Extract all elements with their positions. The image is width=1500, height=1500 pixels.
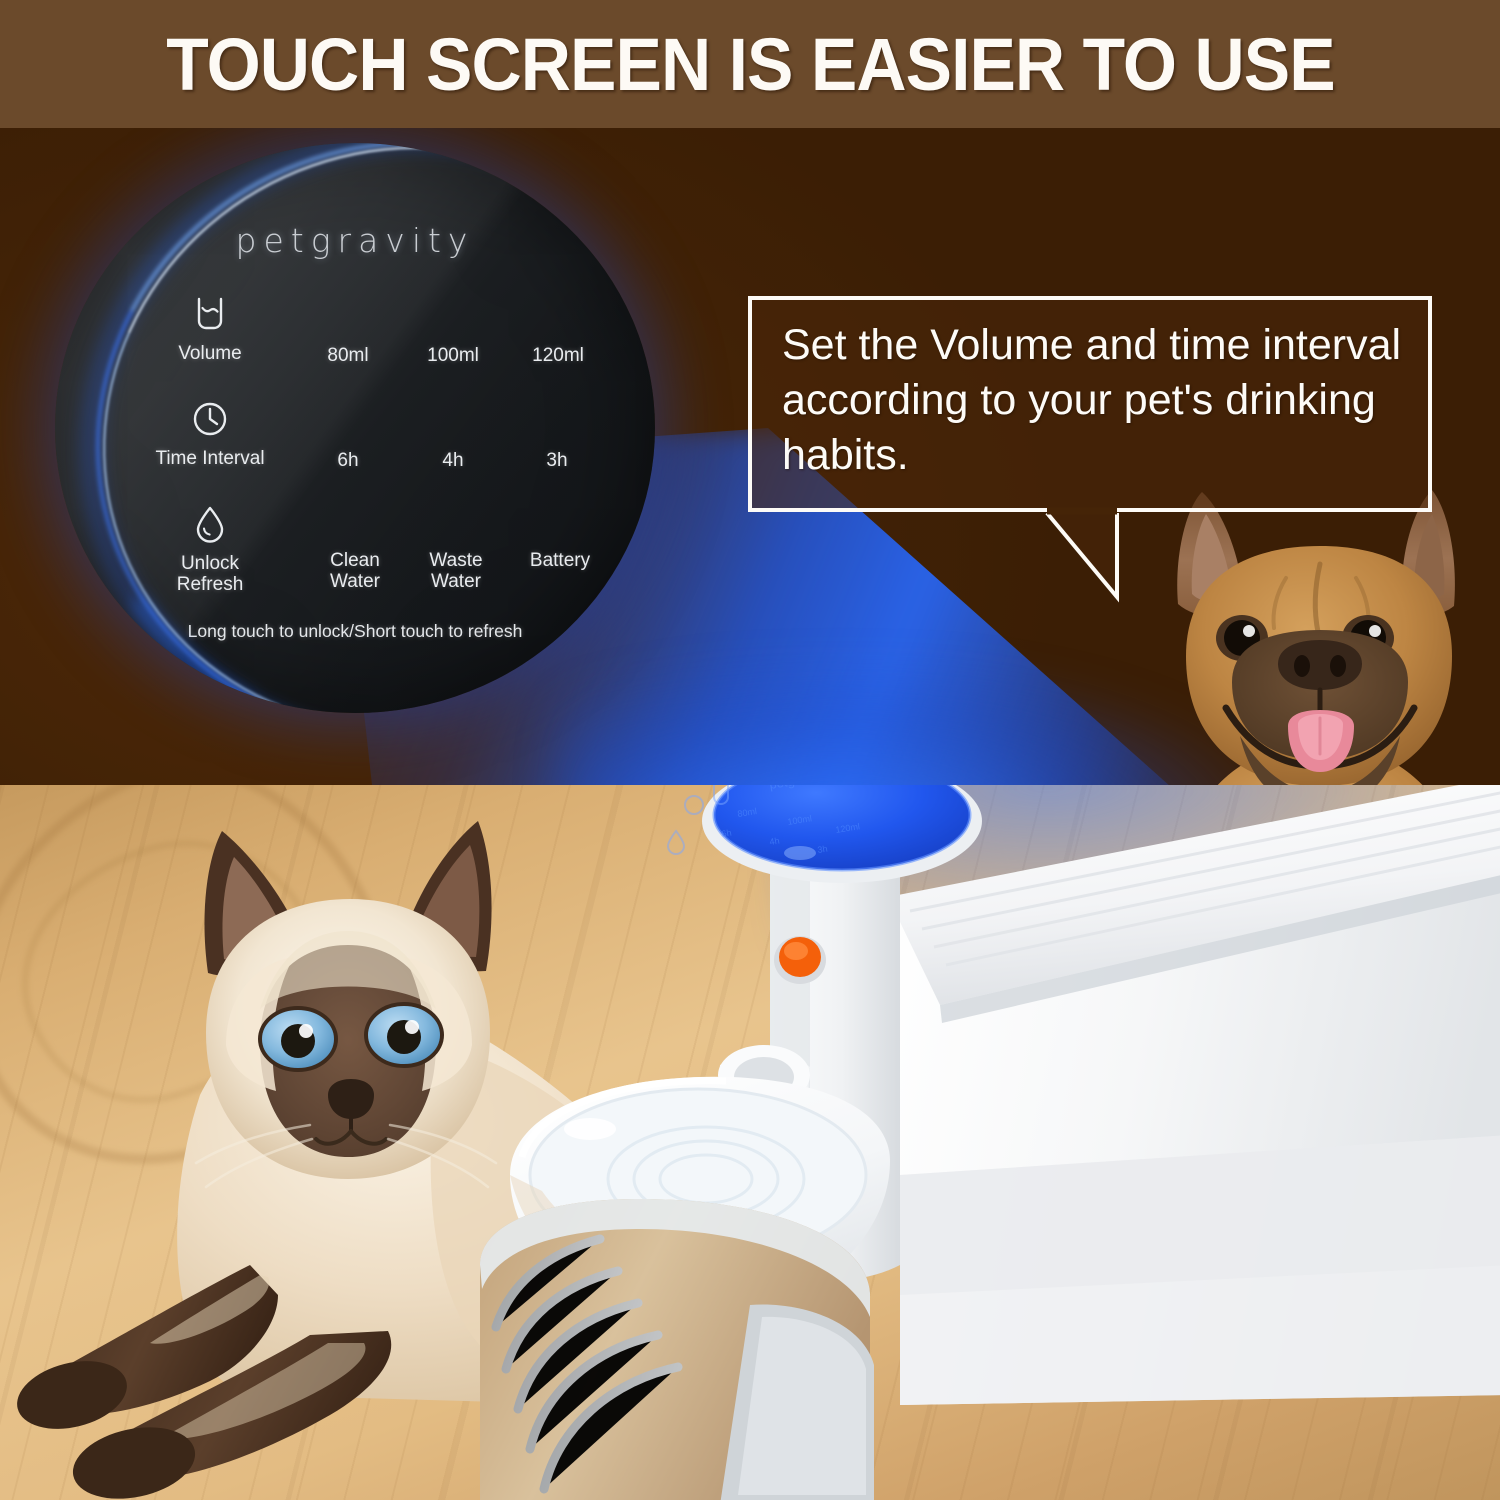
time-option-4h[interactable]: 4h bbox=[410, 450, 496, 471]
panel-row-status: Unlock Refresh Clean Water Waste Water B… bbox=[55, 503, 655, 608]
svg-text:3h: 3h bbox=[817, 844, 828, 855]
waste-water-label-line2: Water bbox=[410, 571, 502, 592]
product-marketing-image: TOUCH SCREEN IS EASIER TO USE petgravity… bbox=[0, 0, 1500, 1500]
time-interval-button[interactable]: Time Interval bbox=[150, 398, 270, 469]
time-option-6h[interactable]: 6h bbox=[308, 450, 388, 471]
panel-hint-text: Long touch to unlock/Short touch to refr… bbox=[55, 621, 655, 642]
volume-option-80ml[interactable]: 80ml bbox=[303, 345, 393, 366]
water-fountain-device: petgravity 80ml 100ml 120ml 6h 4h 3h bbox=[470, 785, 1500, 1500]
clock-icon bbox=[189, 398, 231, 440]
magnified-touch-panel[interactable]: petgravity Volume 80ml 100ml 120ml bbox=[55, 143, 655, 713]
callout-bubble-tail bbox=[1043, 509, 1163, 601]
unlock-refresh-button[interactable]: Unlock Refresh bbox=[150, 503, 270, 596]
panel-row-time-interval: Time Interval 6h 4h 3h bbox=[55, 398, 655, 503]
waste-water-indicator[interactable]: Waste Water bbox=[410, 550, 502, 593]
battery-indicator[interactable]: Battery bbox=[510, 550, 610, 571]
clean-water-label-line1: Clean bbox=[310, 550, 400, 571]
callout-bubble: Set the Volume and time interval accordi… bbox=[748, 296, 1432, 512]
volume-label: Volume bbox=[150, 343, 270, 364]
panel-row-volume: Volume 80ml 100ml 120ml bbox=[55, 293, 655, 398]
clean-water-indicator[interactable]: Clean Water bbox=[310, 550, 400, 593]
panel-control-rows: Volume 80ml 100ml 120ml Time Interval bbox=[55, 293, 655, 608]
unlock-refresh-label-line1: Unlock bbox=[150, 553, 270, 574]
cup-water-icon bbox=[189, 293, 231, 335]
dog-photo bbox=[1140, 486, 1500, 785]
header-banner: TOUCH SCREEN IS EASIER TO USE bbox=[0, 0, 1500, 128]
water-drop-icon bbox=[189, 503, 231, 545]
svg-text:4h: 4h bbox=[769, 836, 780, 847]
lower-lifestyle-photo: petgravity 80ml 100ml 120ml 6h 4h 3h bbox=[0, 785, 1500, 1500]
volume-button[interactable]: Volume bbox=[150, 293, 270, 364]
upper-feature-section: petgravity Volume 80ml 100ml 120ml bbox=[0, 128, 1500, 785]
waste-water-label-line1: Waste bbox=[410, 550, 502, 571]
time-option-3h[interactable]: 3h bbox=[513, 450, 601, 471]
unlock-refresh-label-line2: Refresh bbox=[150, 574, 270, 595]
page-title: TOUCH SCREEN IS EASIER TO USE bbox=[166, 22, 1334, 107]
time-interval-label: Time Interval bbox=[150, 448, 270, 469]
brand-logo: petgravity bbox=[55, 221, 655, 260]
volume-option-100ml[interactable]: 100ml bbox=[405, 345, 501, 366]
volume-option-120ml[interactable]: 120ml bbox=[510, 345, 606, 366]
clean-water-label-line2: Water bbox=[310, 571, 400, 592]
callout-text: Set the Volume and time interval accordi… bbox=[782, 318, 1402, 483]
